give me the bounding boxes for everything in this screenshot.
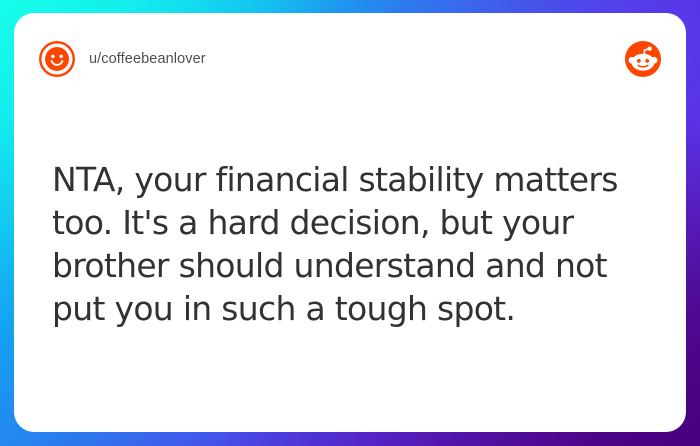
smiley-face-avatar-icon [38, 40, 76, 78]
comment-body: NTA, your financial stability matters to… [52, 158, 660, 330]
username-label: u/coffeebeanlover [89, 51, 206, 67]
reddit-comment-card: u/coffeebeanlover [14, 13, 686, 432]
reddit-snoo-logo-icon [624, 40, 662, 78]
reddit-logo[interactable] [624, 40, 664, 78]
comment-text: NTA, your financial stability matters to… [52, 158, 660, 330]
comment-header: u/coffeebeanlover [14, 13, 686, 105]
avatar[interactable] [36, 40, 76, 78]
screenshot-root: u/coffeebeanlover [0, 0, 700, 446]
